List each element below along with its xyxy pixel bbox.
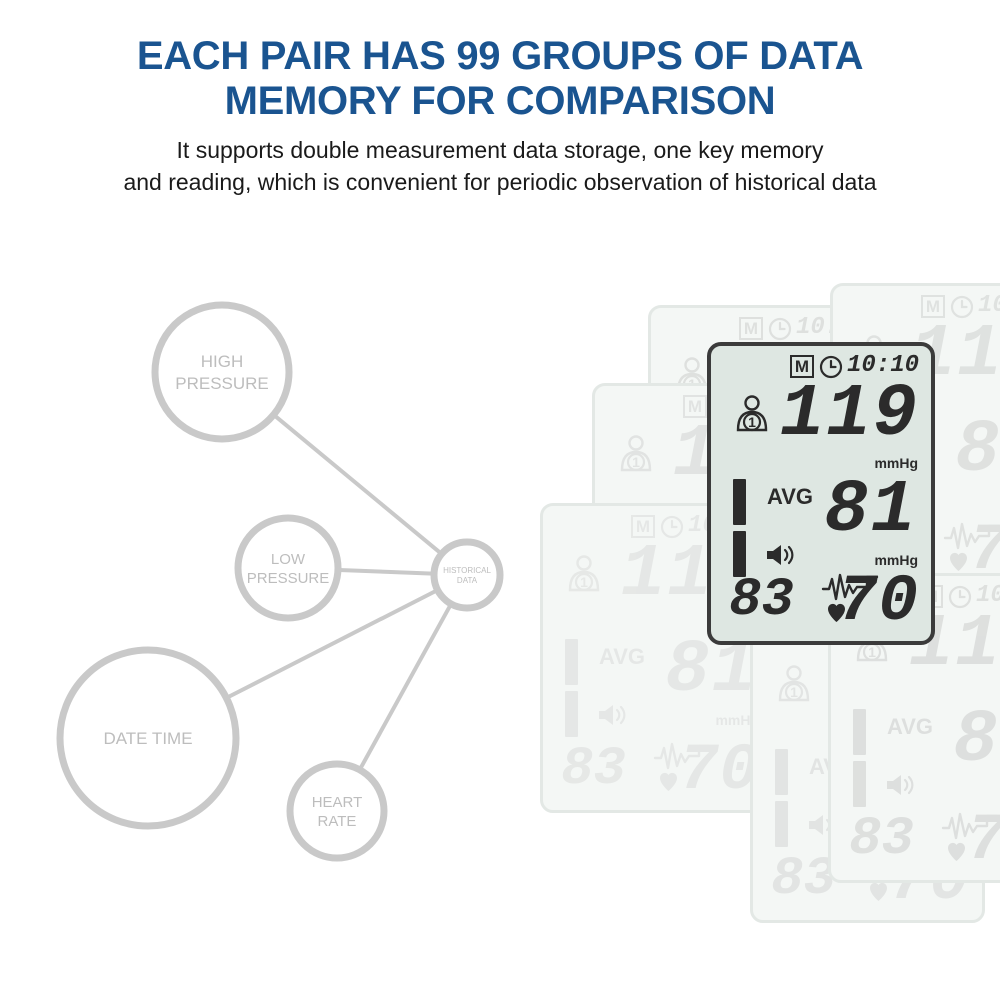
reading-extra-value-ghost3: 70	[679, 738, 760, 804]
bar-level-icon-ghost4	[775, 749, 788, 847]
svg-text:1: 1	[632, 454, 640, 470]
header-section: EACH PAIR HAS 99 GROUPS OF DATA MEMORY F…	[0, 0, 1000, 215]
reading-extra-value-ghost6: 70	[967, 808, 1000, 874]
node-label-low-pressure-line2: PRESSURE	[247, 570, 330, 587]
diastolic-value-ghost3: 81	[665, 634, 758, 708]
diagram-canvas: HIGHPRESSURELOWPRESSUREDATE TIMEHEARTRAT…	[0, 260, 540, 900]
page-title: EACH PAIR HAS 99 GROUPS OF DATA MEMORY F…	[0, 34, 1000, 124]
node-label-high-pressure-line2: PRESSURE	[175, 374, 269, 393]
user-1-icon-ghost4: 1	[775, 664, 813, 709]
diastolic-value-ghost6: 81	[953, 704, 1000, 778]
reading-extra-value: 70	[838, 569, 919, 635]
node-label-date-time-line1: DATE TIME	[103, 729, 192, 748]
bar-level-icon-ghost3	[565, 639, 578, 737]
node-label-historical-data-line2: DATA	[457, 576, 478, 585]
diagram-link-low-pressure-to-historical-data	[336, 570, 436, 574]
subtitle-line-1: It supports double measurement data stor…	[0, 134, 1000, 166]
node-label-heart-rate-line1: HEART	[312, 794, 363, 811]
systolic-value: 119	[780, 378, 919, 452]
avg-label-ghost6: AVG	[887, 715, 933, 739]
lcd-pulse-row-ghost6: 83 70	[831, 810, 1000, 874]
feature-node-diagram: HIGHPRESSURELOWPRESSUREDATE TIMEHEARTRAT…	[0, 260, 540, 900]
svg-text:1: 1	[748, 414, 756, 430]
diagram-nodes: HIGHPRESSURELOWPRESSUREDATE TIMEHEARTRAT…	[60, 305, 500, 858]
user-1-icon-ghost3: 1	[565, 554, 603, 599]
avg-label-ghost3: AVG	[599, 645, 645, 669]
main-lcd-display: M 10:10 1 119 mmHg	[707, 342, 935, 645]
node-circle-historical-data	[434, 542, 500, 608]
user-1-icon-ghost2: 1	[617, 434, 655, 479]
speaker-icon	[764, 542, 798, 573]
lcd-pulse-row: 83 70	[711, 571, 931, 635]
pulse-value-ghost3: 83	[561, 742, 626, 798]
speaker-icon-ghost3	[596, 702, 630, 733]
avg-label: AVG	[767, 485, 813, 509]
node-label-low-pressure-line1: LOW	[271, 551, 306, 568]
lcd-inner-main: M 10:10 1 119 mmHg	[711, 346, 931, 641]
lcd-screen-stack: M 10:10 1 119 mmHg	[530, 275, 1000, 900]
diagram-link-high-pressure-to-historical-data	[272, 413, 443, 555]
page-subtitle: It supports double measurement data stor…	[0, 134, 1000, 198]
diastolic-value-ghost5: 81	[955, 414, 1000, 488]
lcd-pulse-row-ghost3: 83 70	[543, 740, 772, 804]
diagram-node-date-time: DATE TIME	[60, 650, 236, 826]
node-circle-heart-rate	[290, 764, 384, 858]
bar-level-icon-ghost6	[853, 709, 866, 807]
title-line-1: EACH PAIR HAS 99 GROUPS OF DATA	[137, 34, 863, 78]
pulse-value-ghost4: 83	[771, 852, 836, 908]
diagram-node-low-pressure: LOWPRESSURE	[238, 518, 338, 618]
node-circle-high-pressure	[155, 305, 289, 439]
speaker-icon-ghost6	[884, 772, 918, 803]
diastolic-value: 81	[824, 474, 917, 548]
diagram-node-high-pressure: HIGHPRESSURE	[155, 305, 289, 439]
svg-text:1: 1	[580, 574, 588, 590]
diagram-node-heart-rate: HEARTRATE	[290, 764, 384, 858]
svg-text:1: 1	[790, 684, 798, 700]
node-label-historical-data-line1: HISTORICAL	[443, 566, 491, 575]
diagram-links	[225, 413, 452, 771]
node-label-high-pressure-line1: HIGH	[201, 352, 244, 371]
subtitle-line-2: and reading, which is convenient for per…	[0, 166, 1000, 198]
node-label-heart-rate-line2: RATE	[318, 813, 357, 830]
node-circle-low-pressure	[238, 518, 338, 618]
title-line-2: MEMORY FOR COMPARISON	[225, 79, 776, 123]
pulse-value-ghost6: 83	[849, 812, 914, 868]
user-1-icon: 1	[733, 394, 771, 439]
pulse-value: 83	[729, 573, 794, 629]
svg-text:1: 1	[868, 644, 876, 660]
diagram-node-historical-data: HISTORICALDATA	[434, 542, 500, 608]
bar-level-icon	[733, 479, 746, 577]
diagram-link-heart-rate-to-historical-data	[359, 602, 452, 771]
